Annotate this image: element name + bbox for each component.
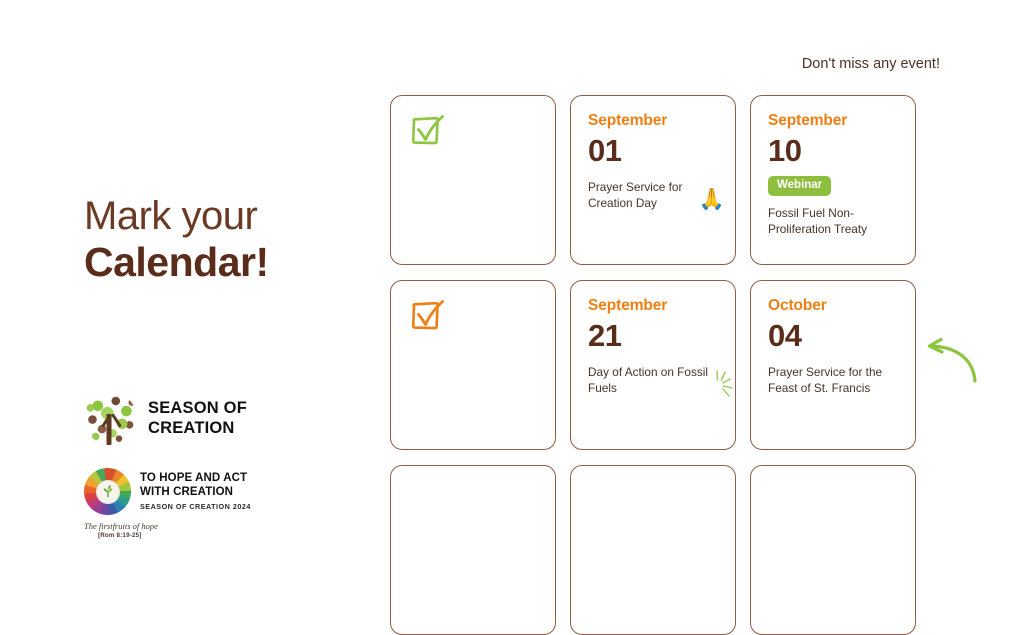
calendar-panel: Don't miss any event! September 01 Praye… bbox=[370, 0, 1024, 576]
season-of-creation-line-2: CREATION bbox=[148, 419, 247, 438]
hope-line-1: TO HOPE AND ACT bbox=[140, 472, 251, 486]
hope-line-2: WITH CREATION bbox=[140, 486, 251, 500]
sparkle-burst-icon bbox=[703, 367, 743, 407]
scripture-verse-text: The firstfruits of hope bbox=[84, 521, 158, 531]
card-month: October bbox=[768, 298, 899, 314]
calendar-card-empty[interactable] bbox=[570, 465, 736, 635]
calendar-card-empty[interactable] bbox=[750, 465, 916, 635]
card-day: 21 bbox=[588, 319, 719, 354]
calendar-card-event[interactable]: October 04 Prayer Service for the Feast … bbox=[750, 280, 916, 450]
tree-icon bbox=[84, 392, 137, 445]
card-description: Prayer Service for the Feast of St. Fran… bbox=[768, 364, 899, 397]
to-hope-and-act-logo-text: TO HOPE AND ACT WITH CREATION SEASON OF … bbox=[140, 472, 251, 512]
scripture-verse: The firstfruits of hope [Rom 8:19-25] bbox=[84, 521, 251, 540]
leaf-sprout-icon bbox=[99, 482, 117, 500]
tagline: Don't miss any event! bbox=[802, 56, 940, 72]
calendar-card-empty[interactable] bbox=[390, 465, 556, 635]
page-title-line-2: Calendar! bbox=[84, 241, 269, 284]
to-hope-and-act-logo: TO HOPE AND ACT WITH CREATION SEASON OF … bbox=[84, 468, 251, 540]
scripture-reference: [Rom 8:19-25] bbox=[98, 532, 251, 540]
card-month: September bbox=[768, 113, 899, 129]
praying-hands-emoji: 🙏 bbox=[699, 189, 725, 210]
page-title: Mark your Calendar! bbox=[84, 196, 269, 283]
calendar-card-event[interactable]: September 10 Webinar Fossil Fuel Non-Pro… bbox=[750, 95, 916, 265]
calendar-card-event[interactable]: September 01 Prayer Service for Creation… bbox=[570, 95, 736, 265]
calendar-card-checkmark-green[interactable] bbox=[390, 95, 556, 265]
colorful-circle-emblem-icon bbox=[84, 468, 131, 515]
card-month: September bbox=[588, 113, 719, 129]
season-of-creation-line-1: SEASON OF bbox=[148, 399, 247, 418]
curved-arrow-left-icon bbox=[917, 337, 979, 385]
left-panel: Mark your Calendar! SEASON OF CREATION bbox=[0, 0, 370, 576]
season-of-creation-logo: SEASON OF CREATION bbox=[84, 392, 247, 445]
card-day: 04 bbox=[768, 319, 899, 354]
card-month: September bbox=[588, 298, 719, 314]
card-day: 01 bbox=[588, 134, 719, 169]
season-of-creation-logo-text: SEASON OF CREATION bbox=[148, 399, 247, 437]
card-description: Fossil Fuel Non-Proliferation Treaty bbox=[768, 205, 899, 238]
page-title-line-1: Mark your bbox=[84, 196, 269, 238]
status-badge: Webinar bbox=[768, 176, 831, 196]
calendar-grid: September 01 Prayer Service for Creation… bbox=[390, 95, 916, 635]
checkbox-checked-icon bbox=[409, 298, 453, 338]
calendar-card-checkmark-orange[interactable] bbox=[390, 280, 556, 450]
checkbox-checked-icon bbox=[409, 113, 453, 153]
card-description: Day of Action on Fossil Fuels bbox=[588, 364, 719, 397]
calendar-card-event[interactable]: September 21 Day of Action on Fossil Fue… bbox=[570, 280, 736, 450]
card-day: 10 bbox=[768, 134, 899, 169]
hope-subtitle: SEASON OF CREATION 2024 bbox=[140, 502, 251, 511]
